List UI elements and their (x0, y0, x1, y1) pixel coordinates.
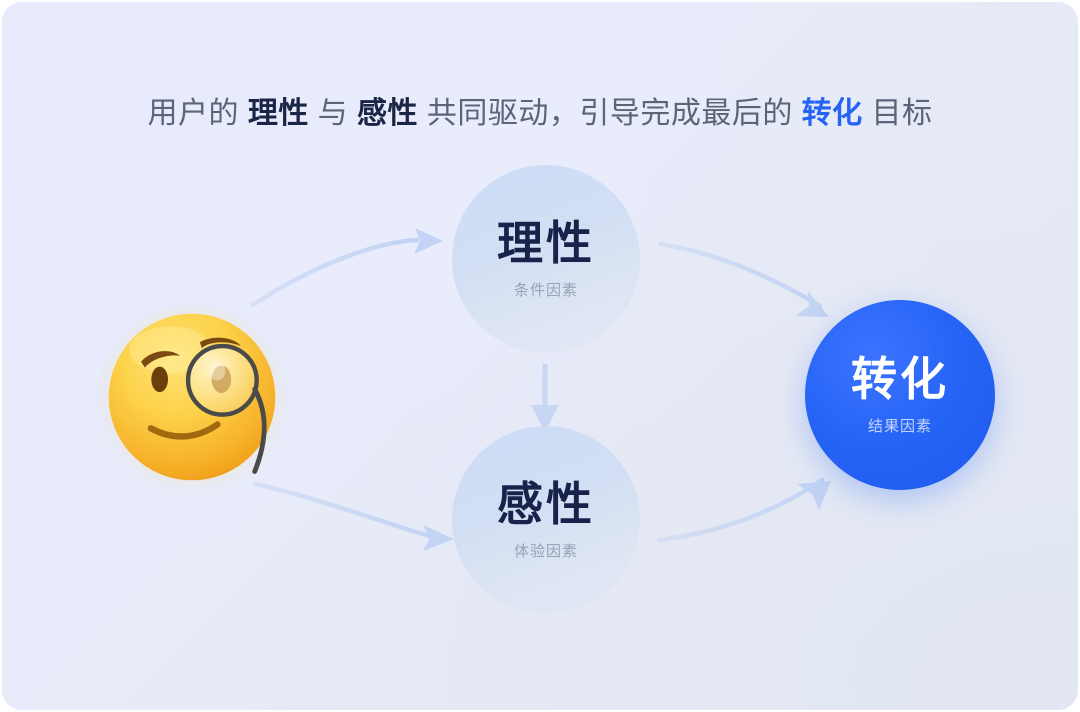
node-emotional-sublabel: 体验因素 (514, 544, 578, 559)
node-emotional-label: 感性 (497, 481, 595, 527)
node-conversion-sublabel: 结果因素 (868, 419, 932, 434)
node-rational-sublabel: 条件因素 (514, 283, 578, 298)
node-conversion[interactable]: 转化 结果因素 (805, 300, 995, 490)
connector-rational-to-conversion (660, 244, 829, 317)
connector-emotional-to-conversion (659, 480, 831, 540)
diagram-panel: 用户的 理性 与 感性 共同驱动，引导完成最后的 转化 目标 (2, 2, 1078, 710)
connector-rational-to-emotional (531, 364, 559, 432)
node-emotional[interactable]: 感性 体验因素 (452, 426, 640, 614)
face-with-monocle-icon (94, 299, 290, 495)
connector-emoji-to-rational (253, 228, 443, 305)
node-rational[interactable]: 理性 条件因素 (452, 165, 640, 353)
node-conversion-label: 转化 (851, 356, 949, 402)
node-rational-label: 理性 (497, 220, 595, 266)
